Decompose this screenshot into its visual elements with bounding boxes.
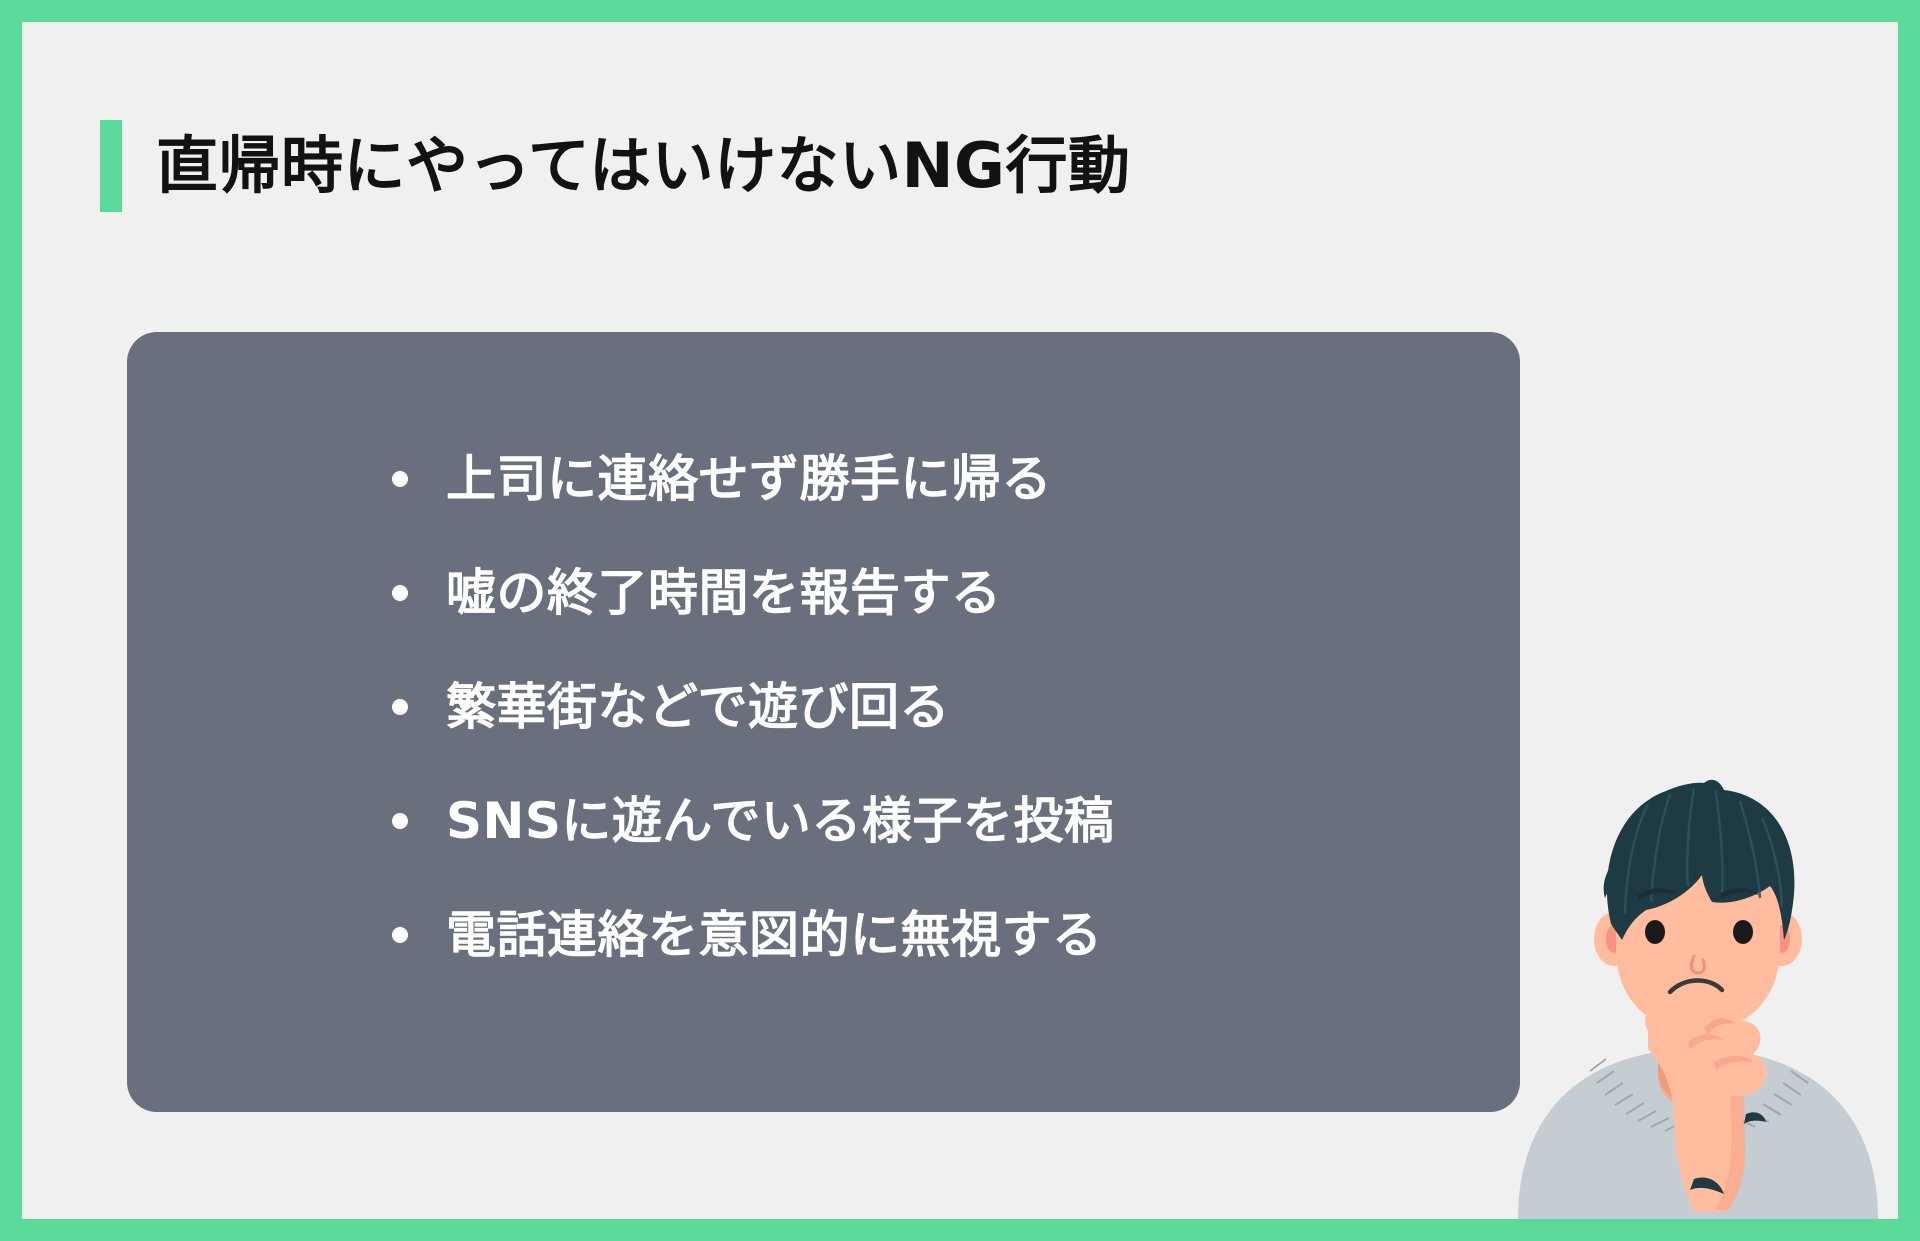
list-item-label: 電話連絡を意図的に無視する	[446, 910, 1103, 960]
list-item-label: SNSに遊んでいる様子を投稿	[446, 796, 1114, 846]
page-title: 直帰時にやってはいけないNG行動	[156, 135, 1130, 197]
list-item: 上司に連絡せず勝手に帰る	[392, 422, 1114, 536]
list-item: 嘘の終了時間を報告する	[392, 536, 1114, 650]
bullet-dot-icon	[392, 585, 408, 601]
slide-inner: 直帰時にやってはいけないNG行動 上司に連絡せず勝手に帰る 嘘の終了時間を報告す…	[22, 22, 1898, 1219]
list-item-label: 上司に連絡せず勝手に帰る	[446, 454, 1052, 504]
list-item: SNSに遊んでいる様子を投稿	[392, 764, 1114, 878]
thinking-man-illustration	[1498, 774, 1898, 1219]
ng-actions-card: 上司に連絡せず勝手に帰る 嘘の終了時間を報告する 繁華街などで遊び回る SNSに…	[127, 332, 1520, 1112]
list-item-label: 嘘の終了時間を報告する	[446, 568, 1002, 618]
bullet-dot-icon	[392, 813, 408, 829]
bullet-dot-icon	[392, 471, 408, 487]
bullet-dot-icon	[392, 927, 408, 943]
ng-actions-list: 上司に連絡せず勝手に帰る 嘘の終了時間を報告する 繁華街などで遊び回る SNSに…	[392, 422, 1114, 992]
list-item: 繁華街などで遊び回る	[392, 650, 1114, 764]
title-accent-bar	[100, 120, 122, 212]
bullet-dot-icon	[392, 699, 408, 715]
slide-title-row: 直帰時にやってはいけないNG行動	[100, 120, 1130, 212]
list-item-label: 繁華街などで遊び回る	[446, 682, 950, 732]
list-item: 電話連絡を意図的に無視する	[392, 878, 1114, 992]
slide: 直帰時にやってはいけないNG行動 上司に連絡せず勝手に帰る 嘘の終了時間を報告す…	[0, 0, 1920, 1241]
